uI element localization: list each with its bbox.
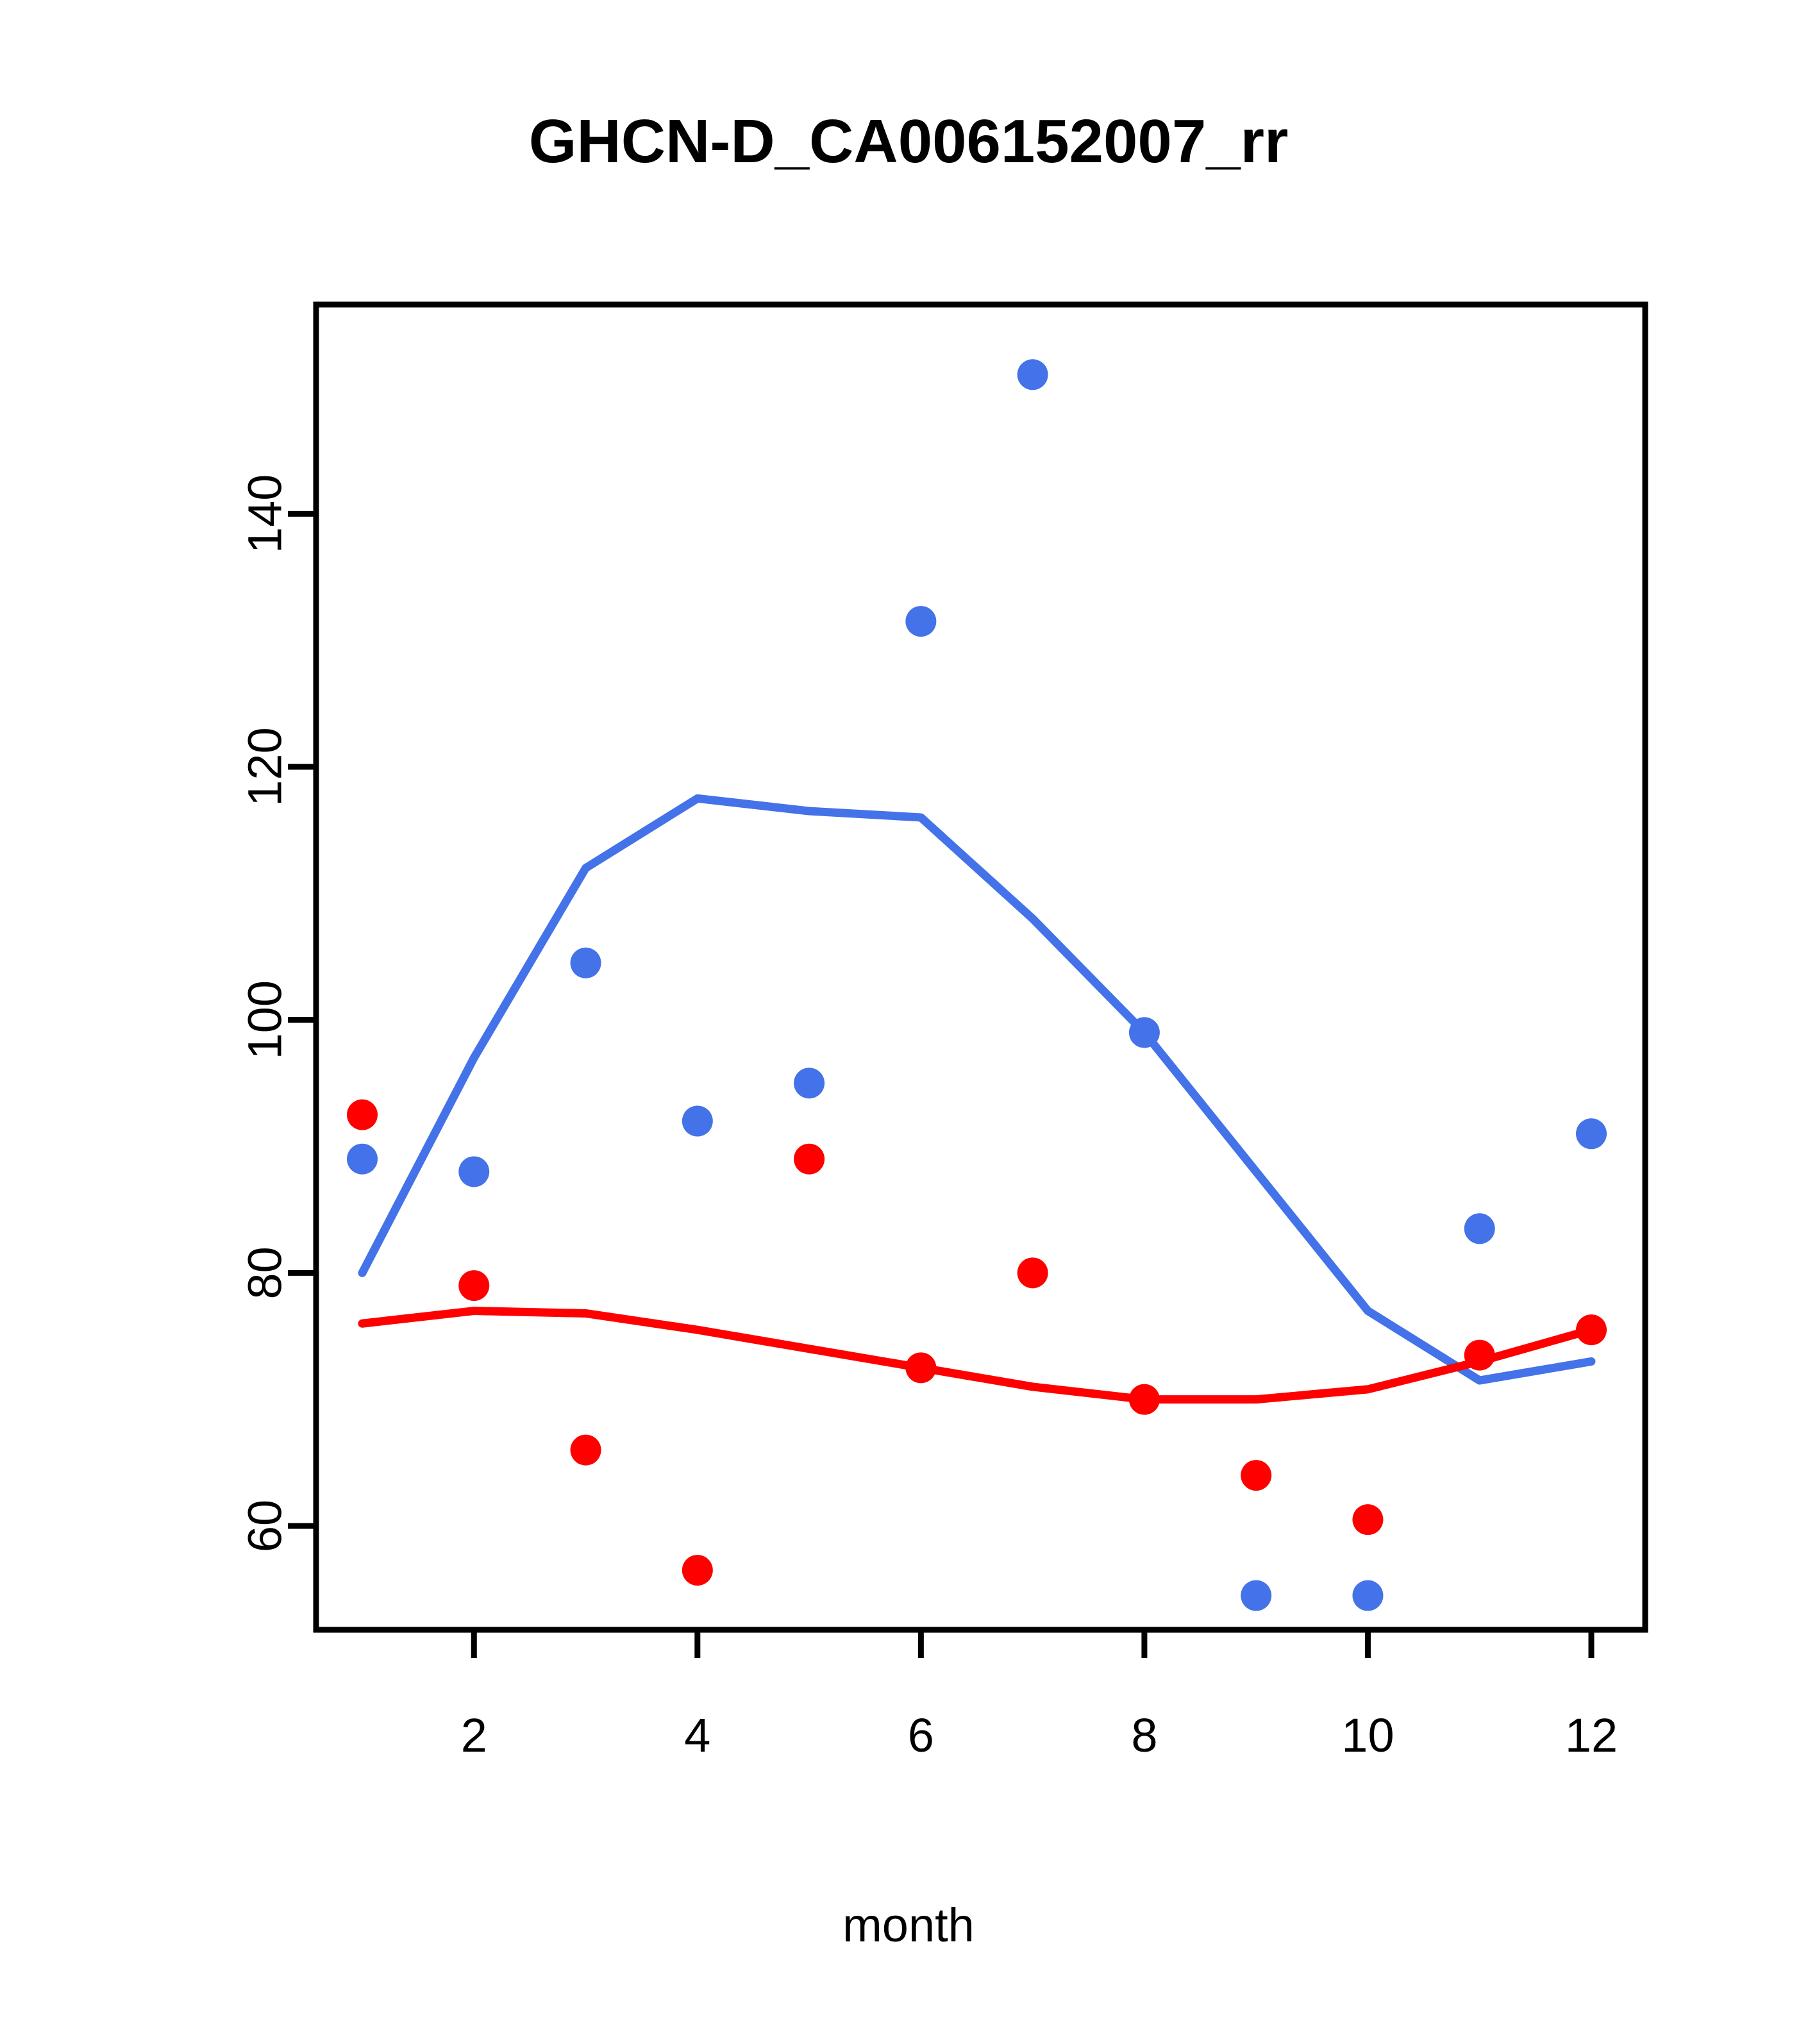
data-point-red-points bbox=[1576, 1314, 1607, 1345]
data-point-red-points bbox=[571, 1435, 601, 1466]
y-axis-tick-label: 60 bbox=[239, 1500, 292, 1552]
data-point-blue-points bbox=[1576, 1118, 1607, 1149]
data-point-blue-points bbox=[1352, 1580, 1383, 1611]
y-axis-tick-label: 120 bbox=[239, 727, 292, 806]
data-point-blue-points bbox=[571, 948, 601, 978]
data-point-red-points bbox=[682, 1555, 713, 1586]
data-point-blue-points bbox=[1129, 1017, 1160, 1048]
data-point-blue-points bbox=[682, 1106, 713, 1137]
plot-frame bbox=[316, 305, 1645, 1630]
data-point-blue-points bbox=[347, 1144, 378, 1175]
data-point-blue-points bbox=[1464, 1213, 1495, 1244]
data-point-blue-points bbox=[458, 1156, 489, 1187]
data-point-red-points bbox=[794, 1144, 825, 1175]
y-axis-tick-label: 140 bbox=[239, 474, 292, 553]
series-line-blue-line bbox=[362, 798, 1591, 1380]
x-axis-tick-label: 10 bbox=[1341, 1709, 1394, 1762]
data-point-red-points bbox=[1017, 1257, 1048, 1288]
data-point-red-points bbox=[458, 1270, 489, 1301]
data-point-blue-points bbox=[1017, 359, 1048, 390]
data-point-red-points bbox=[1241, 1460, 1271, 1491]
chart-figure: GHCN-D_CA006152007_rr 608010012014024681… bbox=[0, 0, 1817, 2044]
data-point-red-points bbox=[905, 1352, 936, 1383]
plot-canvas: 608010012014024681012 bbox=[0, 0, 1817, 2044]
data-point-blue-points bbox=[794, 1068, 825, 1098]
y-axis-tick-label: 100 bbox=[239, 980, 292, 1059]
y-axis-tick-label: 80 bbox=[239, 1246, 292, 1299]
data-point-red-points bbox=[1352, 1504, 1383, 1535]
x-axis-tick-label: 4 bbox=[684, 1709, 710, 1762]
x-axis-label: month bbox=[0, 1898, 1817, 1952]
x-axis-tick-label: 6 bbox=[908, 1709, 934, 1762]
data-point-red-points bbox=[1464, 1340, 1495, 1371]
data-point-red-points bbox=[1129, 1384, 1160, 1415]
x-axis-tick-label: 12 bbox=[1565, 1709, 1618, 1762]
series-line-red-line bbox=[362, 1311, 1591, 1400]
data-point-red-points bbox=[347, 1100, 378, 1130]
data-point-blue-points bbox=[1241, 1580, 1271, 1611]
x-axis-tick-label: 8 bbox=[1131, 1709, 1157, 1762]
x-axis-tick-label: 2 bbox=[461, 1709, 487, 1762]
data-point-blue-points bbox=[905, 606, 936, 637]
